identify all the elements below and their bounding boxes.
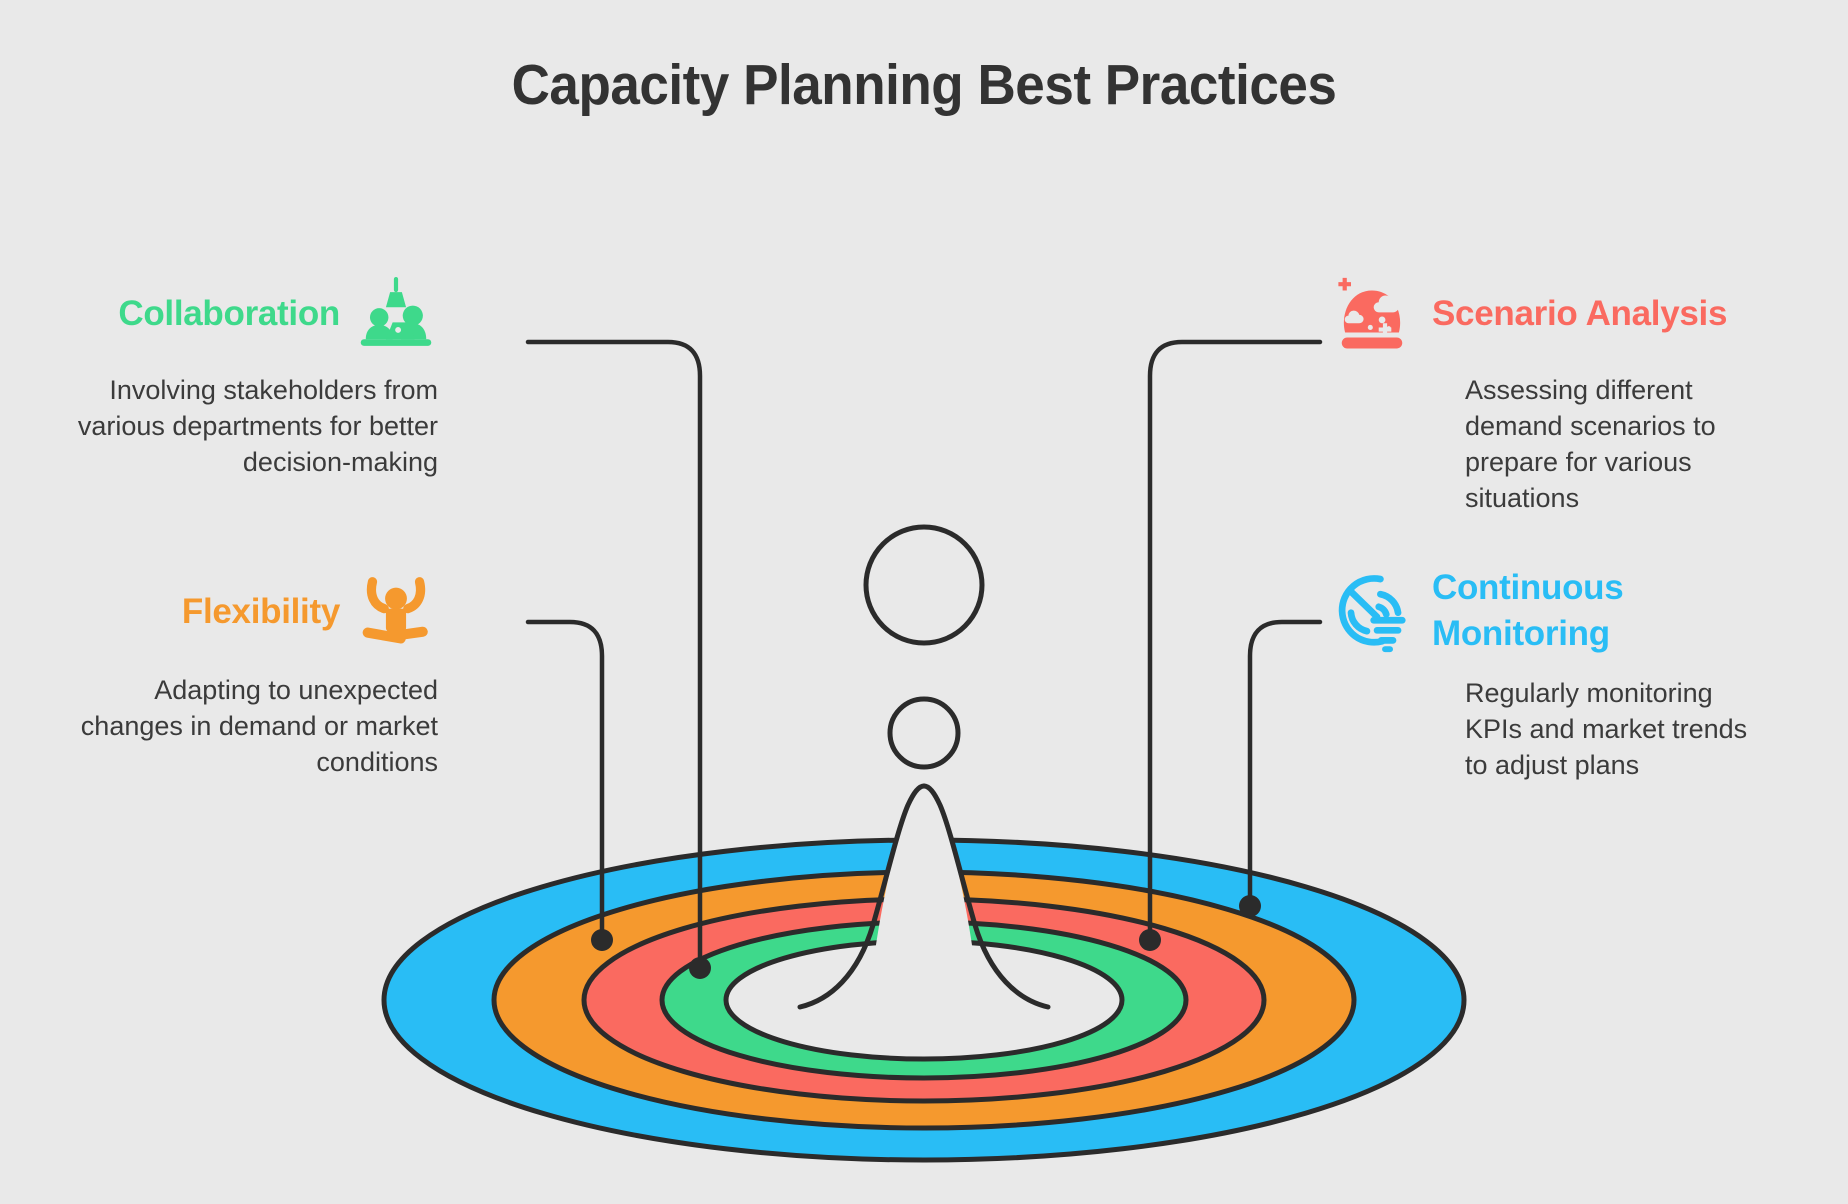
feature-collaboration-header: Collaboration (48, 272, 438, 356)
feature-flexibility[interactable]: Flexibility Adapting to unexpected chang… (48, 570, 438, 780)
splash-outline-right (924, 786, 1048, 1007)
connector-scenario (1150, 342, 1320, 940)
feature-flexibility-body: Adapting to unexpected changes in demand… (48, 672, 438, 780)
feature-collaboration-title: Collaboration (118, 291, 340, 337)
feature-scenario-title: Scenario Analysis (1428, 291, 1727, 337)
people-meeting-icon (354, 272, 438, 356)
splash-outline-left (800, 786, 924, 1007)
ring-orange (494, 872, 1354, 1128)
yoga-pose-icon (354, 570, 438, 654)
splash-column (869, 790, 979, 1028)
droplet-large (866, 527, 982, 643)
ring-red (584, 899, 1264, 1101)
connector-dot-scenario (1139, 929, 1161, 951)
connector-dot-monitoring (1239, 895, 1261, 917)
fingerprint-radar-icon (1330, 569, 1414, 653)
feature-monitoring-header: Continuous Monitoring (1330, 565, 1750, 657)
crystal-ball-icon (1330, 272, 1414, 356)
connector-flexibility (528, 622, 602, 940)
ring-outer-blue (384, 840, 1464, 1160)
feature-flexibility-title: Flexibility (182, 589, 340, 635)
feature-collaboration[interactable]: Collaboration (48, 272, 438, 480)
feature-scenario-body: Assessing different demand scenarios to … (1465, 372, 1750, 516)
feature-continuous-monitoring[interactable]: Continuous Monitoring Regularly monitori… (1330, 565, 1750, 783)
page-title: Capacity Planning Best Practices (65, 52, 1784, 118)
connector-monitoring (1250, 622, 1320, 906)
feature-scenario-header: Scenario Analysis (1330, 272, 1750, 356)
connector-dot-collaboration (689, 957, 711, 979)
feature-monitoring-title: Continuous Monitoring (1428, 565, 1623, 657)
ring-inner-pool (726, 941, 1122, 1059)
feature-collaboration-body: Involving stakeholders from various depa… (48, 372, 438, 480)
feature-flexibility-header: Flexibility (48, 570, 438, 654)
infographic-canvas: Capacity Planning Best Practices (0, 0, 1848, 1204)
feature-scenario-analysis[interactable]: Scenario Analysis Assessing different de… (1330, 272, 1750, 516)
connector-collaboration (528, 342, 700, 968)
droplet-small (890, 699, 958, 767)
connector-dot-flexibility (591, 929, 613, 951)
feature-monitoring-body: Regularly monitoring KPIs and market tre… (1465, 675, 1750, 783)
ring-green (662, 922, 1186, 1078)
